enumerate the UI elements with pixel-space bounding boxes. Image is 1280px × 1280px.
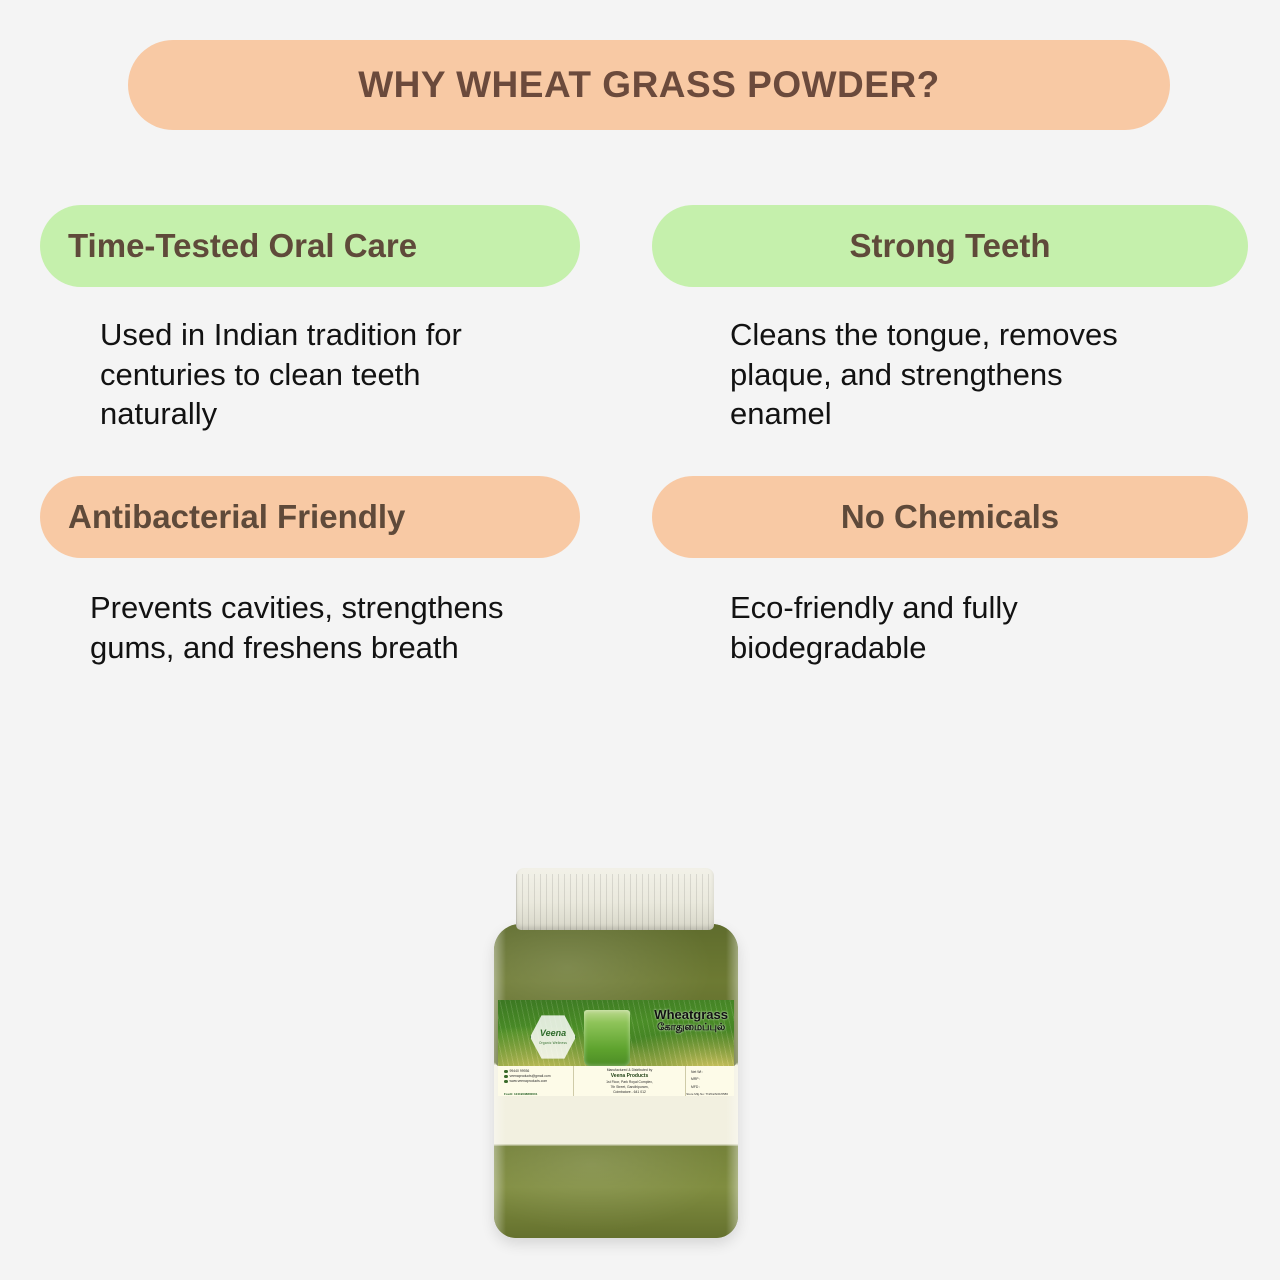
website-value: www.veenaproducts.com: [510, 1079, 548, 1084]
feature-pill-time-tested-oral-care: Time-Tested Oral Care: [40, 205, 580, 287]
feature-pill-strong-teeth: Strong Teeth: [652, 205, 1248, 287]
feature-pill-no-chemicals: No Chemicals: [652, 476, 1248, 558]
feature-description: Cleans the tongue, removes plaque, and s…: [730, 315, 1160, 434]
label-footer: FssAI: 12419038800001 Store Mfg.No: TN/0…: [498, 1092, 734, 1096]
spec-mfd: MFD :: [691, 1085, 734, 1090]
brand-logo-name: Veena: [540, 1029, 566, 1038]
fssai-license: FssAI: 12419038800001: [504, 1092, 537, 1096]
website-row: www.veenaproducts.com: [504, 1079, 573, 1084]
feature-row-bottom: Antibacterial Friendly Prevents cavities…: [0, 476, 1280, 667]
feature-title: No Chemicals: [841, 498, 1059, 536]
batch-info: Store Mfg.No: TN/04/ADF/0586: [686, 1092, 728, 1096]
feature-description: Prevents cavities, strengthens gums, and…: [90, 588, 550, 667]
feature-title: Time-Tested Oral Care: [68, 227, 417, 265]
spec-net-weight: Net Wt :: [691, 1070, 734, 1075]
feature-card-no-chemicals: No Chemicals Eco-friendly and fully biod…: [640, 476, 1280, 667]
manufacturer-name: Veena Products: [574, 1073, 685, 1080]
feature-grid: Time-Tested Oral Care Used in Indian tra…: [0, 205, 1280, 667]
feature-pill-antibacterial-friendly: Antibacterial Friendly: [40, 476, 580, 558]
label-artwork: Veena Organic Wellness Wheatgrass கோதுமை…: [498, 1000, 734, 1066]
jar-cap: [516, 868, 714, 930]
header-banner: WHY WHEAT GRASS POWDER?: [128, 40, 1170, 130]
feature-description: Used in Indian tradition for centuries t…: [100, 315, 540, 434]
product-jar-image: Veena Organic Wellness Wheatgrass கோதுமை…: [494, 868, 738, 1238]
feature-card-antibacterial-friendly: Antibacterial Friendly Prevents cavities…: [0, 476, 640, 667]
jar-label: Veena Organic Wellness Wheatgrass கோதுமை…: [498, 1000, 734, 1096]
label-title-block: Wheatgrass கோதுமைப்புல்: [654, 1008, 728, 1033]
spec-mrp: MRP :: [691, 1077, 734, 1082]
globe-icon: [504, 1080, 508, 1084]
feature-title: Strong Teeth: [849, 227, 1050, 265]
jar-cap-ribbing: [516, 874, 714, 930]
product-name-tamil: கோதுமைப்புல்: [654, 1022, 728, 1033]
feature-card-strong-teeth: Strong Teeth Cleans the tongue, removes …: [640, 205, 1280, 434]
product-name: Wheatgrass: [654, 1008, 728, 1022]
email-icon: [504, 1075, 508, 1079]
brand-logo-tagline: Organic Wellness: [539, 1041, 567, 1045]
page-title: WHY WHEAT GRASS POWDER?: [358, 64, 940, 106]
feature-row-top: Time-Tested Oral Care Used in Indian tra…: [0, 205, 1280, 434]
phone-icon: [504, 1070, 508, 1074]
smoothie-glass-icon: [584, 1010, 630, 1066]
feature-description: Eco-friendly and fully biodegradable: [730, 588, 1180, 667]
feature-title: Antibacterial Friendly: [68, 498, 405, 536]
jar-powder-bottom: [494, 1146, 738, 1238]
feature-card-time-tested-oral-care: Time-Tested Oral Care Used in Indian tra…: [0, 205, 640, 434]
